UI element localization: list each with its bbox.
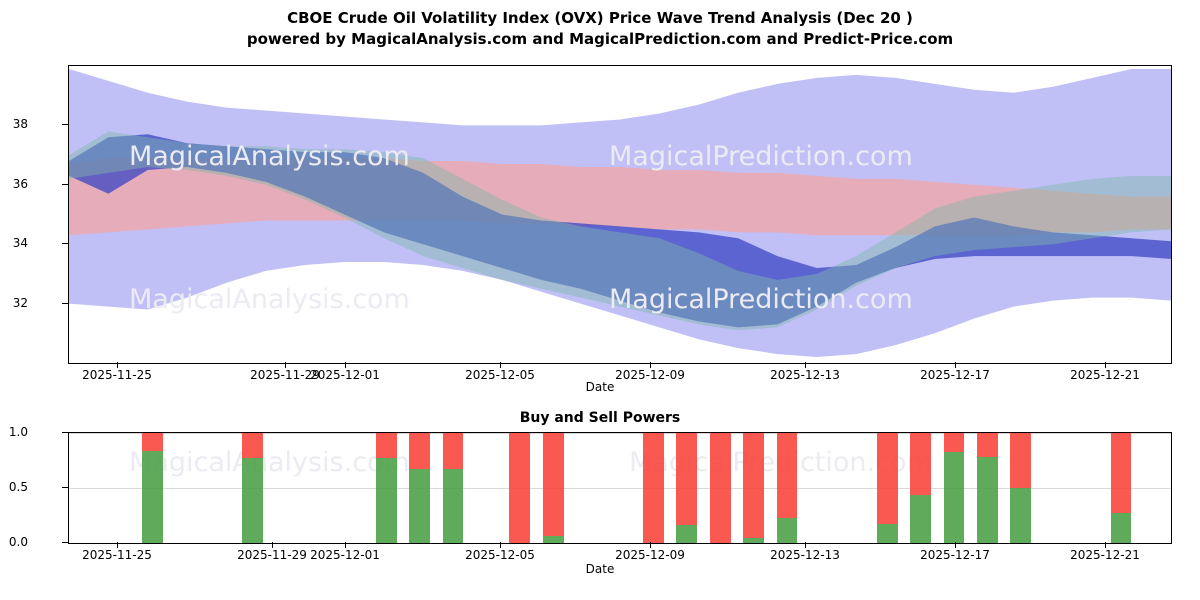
price-y-tick: 34 [13, 236, 28, 250]
price-x-tickmark [345, 362, 346, 368]
buy-power-segment [443, 469, 464, 543]
chart-page: CBOE Crude Oil Volatility Index (OVX) Pr… [0, 0, 1200, 600]
price-x-tickmark [1105, 362, 1106, 368]
signal-x-tick: 2025-12-05 [465, 548, 535, 562]
sell-power-segment [376, 433, 397, 458]
buy-power-segment [676, 525, 697, 543]
buy-power-segment [977, 457, 998, 543]
signal-bar [777, 433, 798, 543]
gridline [69, 488, 1171, 489]
signal-x-tickmark [117, 542, 118, 548]
signal-x-tick: 2025-12-21 [1070, 548, 1140, 562]
title-line-1: CBOE Crude Oil Volatility Index (OVX) Pr… [0, 8, 1200, 29]
price-x-tickmark [805, 362, 806, 368]
sell-power-segment [1111, 433, 1132, 513]
price-y-tickmark [62, 124, 68, 125]
signal-bar [743, 433, 764, 543]
buy-power-segment [743, 538, 764, 544]
gridline [69, 543, 1171, 544]
signal-bar [910, 433, 931, 543]
price-y-tickmark [62, 243, 68, 244]
price-y-tickmark [62, 303, 68, 304]
signal-x-tick: 2025-12-09 [615, 548, 685, 562]
signal-y-tickmark [62, 432, 68, 433]
price-x-tick: 2025-12-21 [1070, 368, 1140, 382]
signal-bar [944, 433, 965, 543]
signal-x-tickmark [955, 542, 956, 548]
price-x-tick: 2025-12-17 [920, 368, 990, 382]
sell-power-segment [509, 433, 530, 543]
price-wave-chart: Price Date MagicalAnalysis.com MagicalPr… [0, 50, 1200, 390]
sell-power-segment [743, 433, 764, 538]
buy-power-segment [409, 469, 430, 543]
price-wave-bands [69, 66, 1171, 363]
signal-x-tickmark [805, 542, 806, 548]
buy-power-segment [910, 495, 931, 543]
signal-bar [676, 433, 697, 543]
buy-sell-powers-chart: Buy and Sell Powers Signal Strength Date… [0, 410, 1200, 600]
signal-x-tick: 2025-12-01 [310, 548, 380, 562]
sell-power-segment [676, 433, 697, 525]
signal-x-tickmark [1105, 542, 1106, 548]
signal-x-tickmark [500, 542, 501, 548]
signal-x-tick: 2025-12-13 [770, 548, 840, 562]
signal-bar [443, 433, 464, 543]
sell-power-segment [977, 433, 998, 457]
sell-power-segment [944, 433, 965, 452]
signal-x-tickmark [650, 542, 651, 548]
signal-bar [1111, 433, 1132, 543]
buy-power-segment [543, 536, 564, 543]
signal-x-tick: 2025-12-17 [920, 548, 990, 562]
price-y-tickmark [62, 184, 68, 185]
signal-y-tick: 0.0 [9, 535, 28, 549]
sell-power-segment [543, 433, 564, 536]
sell-power-segment [142, 433, 163, 451]
price-x-tickmark [650, 362, 651, 368]
sell-power-segment [777, 433, 798, 518]
signal-bar [409, 433, 430, 543]
price-x-tick: 2025-12-01 [310, 368, 380, 382]
signal-bar [376, 433, 397, 543]
buy-sell-title: Buy and Sell Powers [0, 410, 1200, 426]
sell-power-segment [1010, 433, 1031, 488]
buy-power-segment [242, 458, 263, 543]
price-x-tick: 2025-11-25 [82, 368, 152, 382]
signal-y-tickmark [62, 487, 68, 488]
price-x-tickmark [285, 362, 286, 368]
sell-power-segment [409, 433, 430, 469]
buy-sell-plot-area: MagicalAnalysis.com MagicalPrediction.co… [68, 432, 1172, 544]
price-y-tick: 38 [13, 117, 28, 131]
price-x-tickmark [500, 362, 501, 368]
buy-power-segment [777, 518, 798, 543]
buy-power-segment [1010, 488, 1031, 543]
signal-bar [509, 433, 530, 543]
signal-x-tick: 2025-11-29 [237, 548, 307, 562]
sell-power-segment [242, 433, 263, 458]
sell-power-segment [910, 433, 931, 495]
signal-bar [242, 433, 263, 543]
signal-x-tickmark [345, 542, 346, 548]
price-x-tick: 2025-12-05 [465, 368, 535, 382]
title-line-2: powered by MagicalAnalysis.com and Magic… [0, 29, 1200, 50]
signal-x-tickmark [272, 542, 273, 548]
signal-x-tick: 2025-11-25 [82, 548, 152, 562]
price-x-tick: 2025-12-09 [615, 368, 685, 382]
price-y-tick: 32 [13, 296, 28, 310]
signal-bar [977, 433, 998, 543]
gridline [69, 433, 1171, 434]
sell-power-segment [710, 433, 731, 543]
signal-bar [710, 433, 731, 543]
page-title: CBOE Crude Oil Volatility Index (OVX) Pr… [0, 8, 1200, 50]
signal-bar [877, 433, 898, 543]
buy-power-segment [877, 524, 898, 543]
sell-power-segment [643, 433, 664, 543]
price-x-tickmark [117, 362, 118, 368]
price-x-tick: 2025-12-13 [770, 368, 840, 382]
price-y-tick: 36 [13, 177, 28, 191]
watermark: MagicalAnalysis.com [129, 447, 410, 478]
buy-power-segment [944, 452, 965, 543]
price-chart-plot-area: MagicalAnalysis.com MagicalPrediction.co… [68, 65, 1172, 364]
signal-y-tick: 1.0 [9, 425, 28, 439]
price-chart-xlabel: Date [0, 380, 1200, 394]
buy-sell-xlabel: Date [0, 562, 1200, 576]
buy-power-segment [1111, 513, 1132, 543]
buy-power-segment [376, 458, 397, 543]
signal-y-tickmark [62, 542, 68, 543]
signal-y-tick: 0.5 [9, 480, 28, 494]
signal-bar [643, 433, 664, 543]
signal-bar [543, 433, 564, 543]
signal-bar [1010, 433, 1031, 543]
sell-power-segment [443, 433, 464, 469]
price-x-tickmark [955, 362, 956, 368]
sell-power-segment [877, 433, 898, 524]
signal-bar [142, 433, 163, 543]
buy-power-segment [142, 451, 163, 543]
